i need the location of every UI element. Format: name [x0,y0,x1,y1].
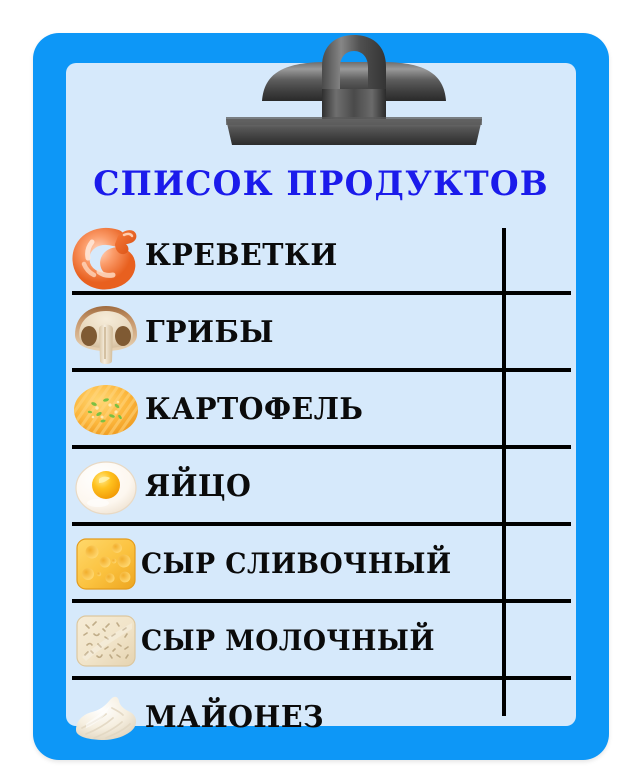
quantity-column-divider [502,228,506,716]
list-item[interactable]: СЫР МОЛОЧНЫЙ [33,602,609,679]
mayonnaise-icon [72,684,140,752]
mushroom-icon [72,299,140,367]
row-rule [72,676,571,680]
screenshot-canvas: СПИСОК ПРОДУКТОВ [0,0,642,770]
list-item[interactable]: КРЕВЕТКИ [33,217,609,294]
potato-rosti-icon [72,376,140,444]
yellow-cheese-icon [72,530,140,598]
list-item-label: КРЕВЕТКИ [145,239,500,273]
list-item-label: КАРТОФЕЛЬ [145,393,500,427]
list-item[interactable]: СЫР СЛИВОЧНЫЙ [33,525,609,602]
clipboard: СПИСОК ПРОДУКТОВ [33,33,609,760]
milk-cheese-icon [72,607,140,675]
row-rule [72,445,571,449]
list-item[interactable]: ЯЙЦО [33,448,609,525]
list-item[interactable]: ГРИБЫ [33,294,609,371]
list-item-label: ЯЙЦО [145,470,500,504]
page-title: СПИСОК ПРОДУКТОВ [42,164,601,204]
list-item-label: СЫР СЛИВОЧНЫЙ [141,547,500,581]
shrimp-icon [72,222,140,290]
list-item-label: МАЙОНЕЗ [145,701,500,735]
row-rule [72,599,571,603]
row-rule [72,522,571,526]
fried-egg-icon [72,453,140,521]
row-rule [72,291,571,295]
list-item[interactable]: КАРТОФЕЛЬ [33,371,609,448]
clipboard-clip-icon[interactable] [218,33,490,145]
product-list: КРЕВЕТКИ [33,217,609,756]
list-item[interactable]: МАЙОНЕЗ [33,679,609,756]
list-item-label: ГРИБЫ [145,316,500,350]
list-item-label: СЫР МОЛОЧНЫЙ [141,624,500,658]
row-rule [72,368,571,372]
